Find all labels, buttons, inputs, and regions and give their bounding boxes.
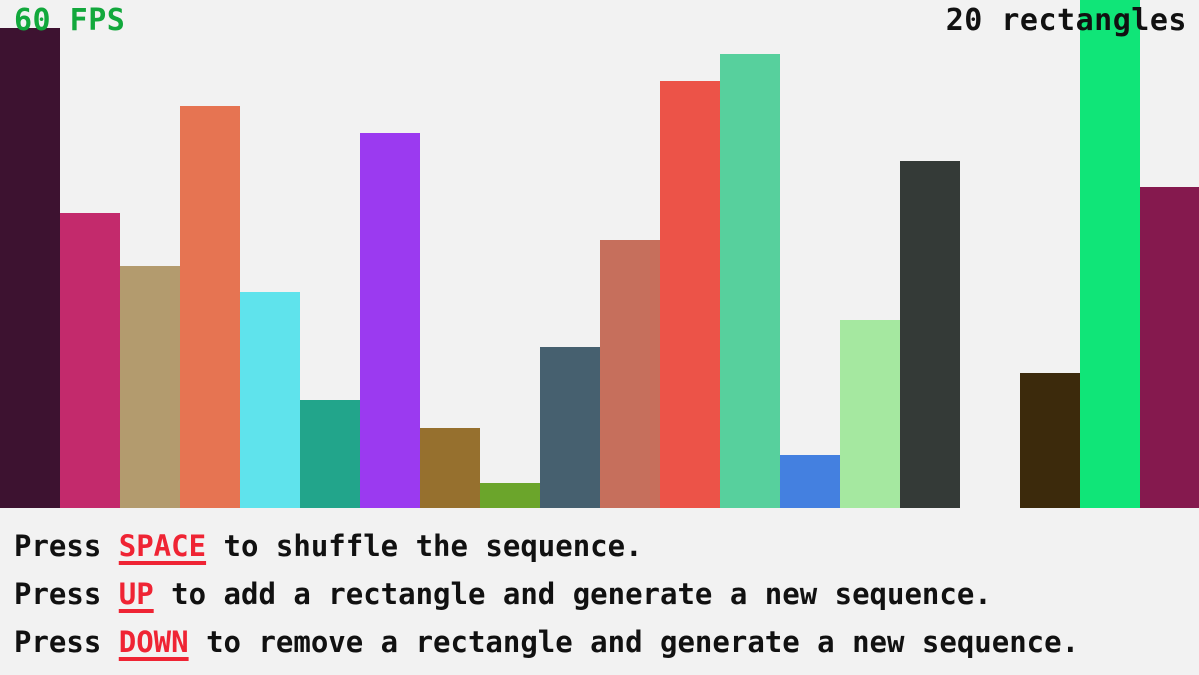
- key-up[interactable]: UP: [119, 577, 154, 611]
- fps-counter: 60 FPS: [14, 6, 125, 36]
- bar-11-terracotta: [600, 240, 660, 508]
- bar-5-cyan: [240, 292, 300, 508]
- rectangle-chart: [0, 0, 1199, 508]
- key-down[interactable]: DOWN: [119, 625, 189, 659]
- bar-20-dark-magenta: [1140, 187, 1199, 508]
- rectangle-count-label: 20 rectangles: [946, 6, 1187, 36]
- key-space[interactable]: SPACE: [119, 529, 206, 563]
- instruction-suffix: to add a rectangle and generate a new se…: [154, 577, 992, 611]
- bar-13-mint: [720, 54, 780, 508]
- instruction-prefix: Press: [14, 529, 119, 563]
- bar-12-red: [660, 81, 720, 508]
- instruction-line-2: Press UP to add a rectangle and generate…: [14, 570, 1199, 618]
- bar-18-dark-brown: [1020, 373, 1080, 508]
- instruction-suffix: to shuffle the sequence.: [206, 529, 643, 563]
- bar-16-dark-gray: [900, 161, 960, 508]
- app-root: 60 FPS 20 rectangles Press SPACE to shuf…: [0, 0, 1199, 675]
- bar-2-magenta: [60, 213, 120, 508]
- instruction-suffix: to remove a rectangle and generate a new…: [189, 625, 1079, 659]
- instruction-prefix: Press: [14, 625, 119, 659]
- instruction-prefix: Press: [14, 577, 119, 611]
- bar-14-blue: [780, 455, 840, 508]
- bar-3-tan: [120, 266, 180, 508]
- instructions-panel: Press SPACE to shuffle the sequence.Pres…: [0, 508, 1199, 675]
- instruction-line-1: Press SPACE to shuffle the sequence.: [14, 522, 1199, 570]
- bar-4-orange: [180, 106, 240, 508]
- bar-15-light-green: [840, 320, 900, 508]
- bar-10-slate-blue: [540, 347, 600, 508]
- bar-6-teal: [300, 400, 360, 508]
- instruction-line-3: Press DOWN to remove a rectangle and gen…: [14, 618, 1199, 666]
- bar-8-brown: [420, 428, 480, 508]
- bar-1-dark-plum: [0, 28, 60, 508]
- bar-9-olive-green: [480, 483, 540, 508]
- bar-7-violet: [360, 133, 420, 508]
- bar-19-bright-green: [1080, 0, 1140, 508]
